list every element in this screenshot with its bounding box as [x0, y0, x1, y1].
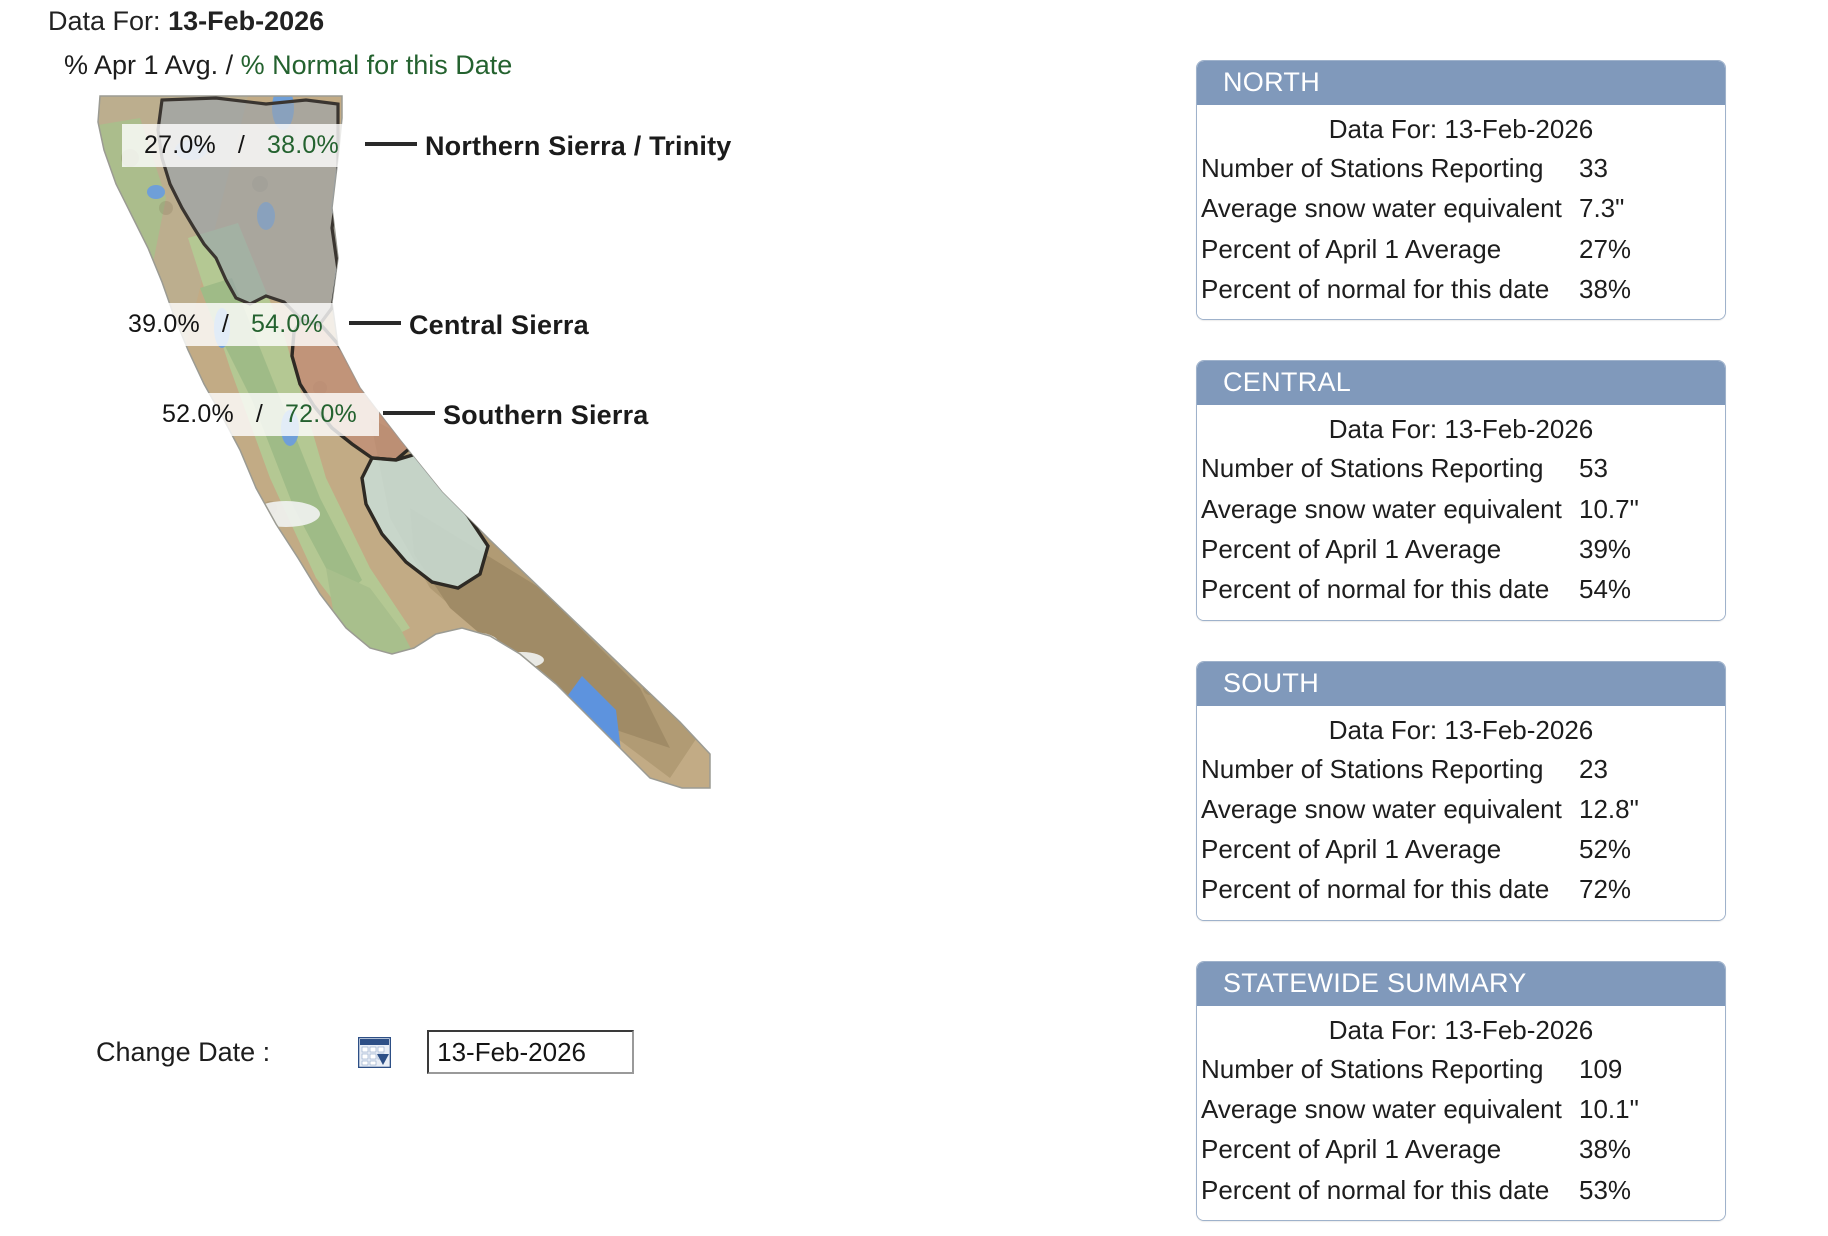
panel-north-title: NORTH	[1197, 61, 1725, 105]
callout-south-leader-line	[383, 411, 435, 415]
panel-south-key-pct-apr1: Percent of April 1 Average	[1197, 832, 1501, 866]
data-for-label: Data For:	[48, 6, 161, 36]
panel-south-key-pct-normal: Percent of normal for this date	[1197, 872, 1549, 906]
panel-central-row-swe: Average snow water equivalent 10.7"	[1197, 489, 1725, 529]
panel-central-value-stations: 53	[1575, 451, 1725, 485]
panel-south-title: SOUTH	[1197, 662, 1725, 706]
snow-water-content-page: Data For: 13-Feb-2026 % Apr 1 Avg. / % N…	[0, 0, 1828, 1236]
panel-south-value-pct-normal: 72%	[1575, 872, 1725, 906]
panel-central-key-pct-normal: Percent of normal for this date	[1197, 572, 1549, 606]
map-callout-north: 27.0%/38.0%Northern Sierra / Trinity	[122, 124, 732, 167]
panel-central-body: Data For: 13-Feb-2026 Number of Stations…	[1197, 405, 1725, 619]
date-input[interactable]	[427, 1030, 634, 1074]
callout-central-pct-normal: 54.0%	[251, 310, 323, 338]
panel-north-row-stations: Number of Stations Reporting 33	[1197, 148, 1725, 188]
panel-north-key-swe: Average snow water equivalent	[1197, 191, 1562, 225]
panel-north-value-stations: 33	[1575, 151, 1725, 185]
panel-central-date-line: Data For: 13-Feb-2026	[1197, 409, 1725, 448]
panel-statewide-key-pct-normal: Percent of normal for this date	[1197, 1173, 1549, 1207]
panel-central: CENTRAL Data For: 13-Feb-2026 Number of …	[1196, 360, 1726, 620]
panel-north-key-stations: Number of Stations Reporting	[1197, 151, 1544, 185]
change-date-row: Change Date :	[96, 1030, 634, 1074]
panel-north-row-swe: Average snow water equivalent 7.3"	[1197, 188, 1725, 228]
callout-north-pct-normal: 38.0%	[267, 131, 339, 159]
panel-statewide-summary: STATEWIDE SUMMARY Data For: 13-Feb-2026 …	[1196, 961, 1726, 1221]
callout-south-separator: /	[234, 400, 285, 428]
callout-south-region-name: Southern Sierra	[443, 400, 649, 430]
panel-statewide-row-stations: Number of Stations Reporting 109	[1197, 1049, 1725, 1089]
panel-statewide-value-pct-normal: 53%	[1575, 1173, 1725, 1207]
panel-central-key-pct-apr1: Percent of April 1 Average	[1197, 532, 1501, 566]
panel-statewide-key-stations: Number of Stations Reporting	[1197, 1052, 1544, 1086]
calendar-icon[interactable]	[358, 1037, 391, 1068]
callout-north-values: 27.0%/38.0%	[122, 124, 361, 167]
panel-central-row-stations: Number of Stations Reporting 53	[1197, 448, 1725, 488]
panel-north-value-pct-normal: 38%	[1575, 272, 1725, 306]
panel-south-value-stations: 23	[1575, 752, 1725, 786]
callout-north-pct-apr1: 27.0%	[144, 131, 216, 159]
callout-north-leader-line	[365, 142, 417, 146]
panel-statewide-title: STATEWIDE SUMMARY	[1197, 962, 1725, 1006]
region-summary-panels: NORTH Data For: 13-Feb-2026 Number of St…	[1196, 60, 1732, 1236]
panel-statewide-value-pct-apr1: 38%	[1575, 1132, 1725, 1166]
panel-statewide-key-swe: Average snow water equivalent	[1197, 1092, 1562, 1126]
panel-statewide-row-pct-normal: Percent of normal for this date 53%	[1197, 1170, 1725, 1210]
panel-statewide-key-pct-apr1: Percent of April 1 Average	[1197, 1132, 1501, 1166]
legend-apr1-label: % Apr 1 Avg.	[64, 50, 218, 80]
callout-south-values: 52.0%/72.0%	[140, 393, 379, 436]
panel-statewide-body: Data For: 13-Feb-2026 Number of Stations…	[1197, 1006, 1725, 1220]
panel-central-title: CENTRAL	[1197, 361, 1725, 405]
calendar-icon-svg	[358, 1037, 391, 1068]
callout-central-separator: /	[200, 310, 251, 338]
legend-separator: /	[226, 50, 234, 80]
legend-normal-label: % Normal for this Date	[241, 50, 513, 80]
panel-north-value-pct-apr1: 27%	[1575, 232, 1725, 266]
panel-north: NORTH Data For: 13-Feb-2026 Number of St…	[1196, 60, 1726, 320]
panel-statewide-row-pct-apr1: Percent of April 1 Average 38%	[1197, 1129, 1725, 1169]
panel-south-row-pct-apr1: Percent of April 1 Average 52%	[1197, 829, 1725, 869]
callout-north-region-name: Northern Sierra / Trinity	[425, 131, 732, 161]
panel-central-key-stations: Number of Stations Reporting	[1197, 451, 1544, 485]
california-snow-map[interactable]	[70, 88, 760, 828]
panel-north-key-pct-apr1: Percent of April 1 Average	[1197, 232, 1501, 266]
panel-south-body: Data For: 13-Feb-2026 Number of Stations…	[1197, 706, 1725, 920]
callout-south-pct-normal: 72.0%	[285, 400, 357, 428]
panel-north-key-pct-normal: Percent of normal for this date	[1197, 272, 1549, 306]
panel-central-value-pct-apr1: 39%	[1575, 532, 1725, 566]
panel-north-date-line: Data For: 13-Feb-2026	[1197, 109, 1725, 148]
panel-south-row-swe: Average snow water equivalent 12.8"	[1197, 789, 1725, 829]
panel-south: SOUTH Data For: 13-Feb-2026 Number of St…	[1196, 661, 1726, 921]
callout-central-values: 39.0%/54.0%	[106, 303, 345, 346]
data-for-value: 13-Feb-2026	[168, 6, 324, 36]
panel-statewide-value-stations: 109	[1575, 1052, 1725, 1086]
callout-central-region-name: Central Sierra	[409, 310, 589, 340]
panel-south-row-stations: Number of Stations Reporting 23	[1197, 749, 1725, 789]
panel-south-key-stations: Number of Stations Reporting	[1197, 752, 1544, 786]
map-callout-central: 39.0%/54.0%Central Sierra	[106, 303, 589, 346]
panel-north-value-swe: 7.3"	[1575, 191, 1725, 225]
callout-central-leader-line	[349, 321, 401, 325]
panel-statewide-row-swe: Average snow water equivalent 10.1"	[1197, 1089, 1725, 1129]
callout-south-pct-apr1: 52.0%	[162, 400, 234, 428]
change-date-label: Change Date :	[96, 1037, 270, 1068]
map-callout-south: 52.0%/72.0%Southern Sierra	[140, 393, 649, 436]
panel-south-date-line: Data For: 13-Feb-2026	[1197, 710, 1725, 749]
panel-north-row-pct-apr1: Percent of April 1 Average 27%	[1197, 229, 1725, 269]
panel-south-row-pct-normal: Percent of normal for this date 72%	[1197, 869, 1725, 909]
panel-north-body: Data For: 13-Feb-2026 Number of Stations…	[1197, 105, 1725, 319]
panel-central-key-swe: Average snow water equivalent	[1197, 492, 1562, 526]
panel-south-value-swe: 12.8"	[1575, 792, 1725, 826]
panel-central-value-pct-normal: 54%	[1575, 572, 1725, 606]
callout-north-separator: /	[216, 131, 267, 159]
panel-statewide-date-line: Data For: 13-Feb-2026	[1197, 1010, 1725, 1049]
panel-south-value-pct-apr1: 52%	[1575, 832, 1725, 866]
panel-central-value-swe: 10.7"	[1575, 492, 1725, 526]
panel-statewide-value-swe: 10.1"	[1575, 1092, 1725, 1126]
map-legend: % Apr 1 Avg. / % Normal for this Date	[64, 50, 512, 81]
panel-central-row-pct-apr1: Percent of April 1 Average 39%	[1197, 529, 1725, 569]
page-data-for-line: Data For: 13-Feb-2026	[48, 6, 324, 37]
panel-central-row-pct-normal: Percent of normal for this date 54%	[1197, 569, 1725, 609]
panel-south-key-swe: Average snow water equivalent	[1197, 792, 1562, 826]
panel-north-row-pct-normal: Percent of normal for this date 38%	[1197, 269, 1725, 309]
callout-central-pct-apr1: 39.0%	[128, 310, 200, 338]
california-map-svg	[70, 88, 760, 828]
